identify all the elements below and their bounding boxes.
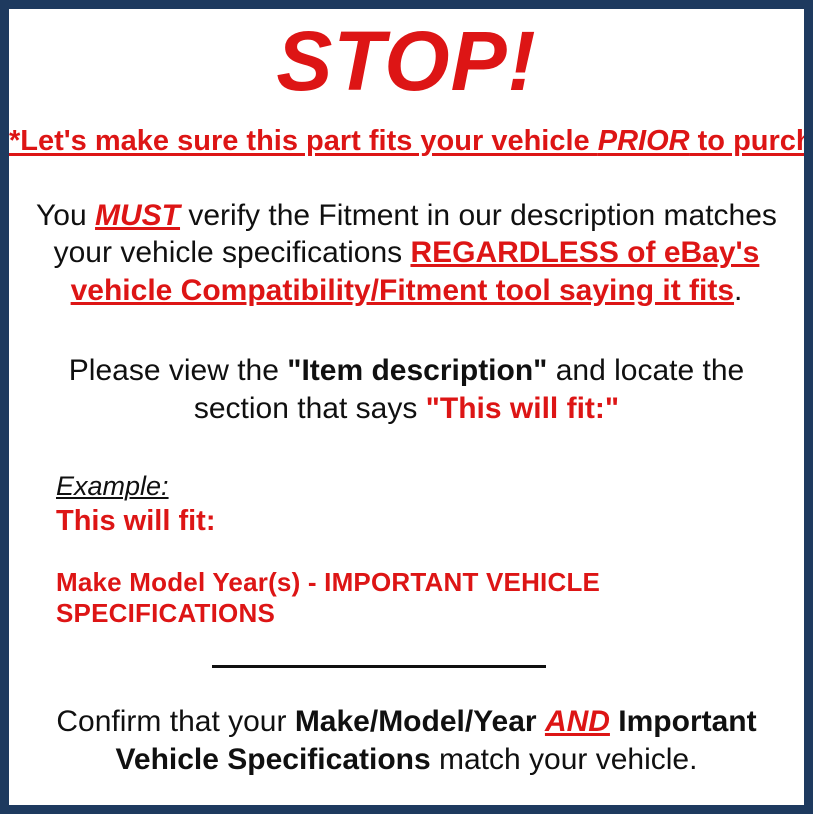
example-spec-line: Make Model Year(s) - IMPORTANT VEHICLE S…: [56, 567, 804, 629]
confirm-space1: [537, 705, 545, 738]
paragraph-view-description: Please view the "Item description" and l…: [9, 352, 804, 428]
confirm-text-part4: match your vehicle.: [431, 743, 698, 776]
page-title: STOP!: [9, 9, 804, 105]
must-text-part1: You: [36, 199, 95, 232]
item-description-label: "Item description": [287, 354, 547, 387]
example-block: Example: This will fit: Make Model Year(…: [9, 470, 804, 630]
example-label-row: Example:: [56, 470, 804, 502]
make-model-year-label: Make/Model/Year: [295, 705, 537, 738]
subtitle-banner: *Let's make sure this part fits your veh…: [9, 125, 804, 158]
divider-container: [9, 655, 804, 673]
must-emphasis: MUST: [95, 199, 180, 232]
subtitle-emphasis-prior: PRIOR: [598, 125, 690, 157]
fitment-notice-card: STOP! *Let's make sure this part fits yo…: [9, 9, 804, 805]
this-will-fit-label: "This will fit:": [426, 392, 619, 425]
confirm-text-part1: Confirm that your: [56, 705, 294, 738]
must-text-part3: .: [734, 274, 742, 307]
subtitle-lead-text: *Let's make sure this part fits your veh…: [9, 125, 598, 157]
example-label: Example:: [56, 470, 169, 502]
example-fit-heading: This will fit:: [56, 504, 804, 539]
and-emphasis: AND: [545, 705, 610, 738]
subtitle-tail-text: to purchasing*: [690, 125, 804, 157]
paragraph-must-verify: You MUST verify the Fitment in our descr…: [9, 197, 804, 310]
paragraph-confirm-match: Confirm that your Make/Model/Year AND Im…: [9, 703, 804, 779]
view-text-part1: Please view the: [69, 354, 287, 387]
section-divider: [212, 665, 546, 668]
